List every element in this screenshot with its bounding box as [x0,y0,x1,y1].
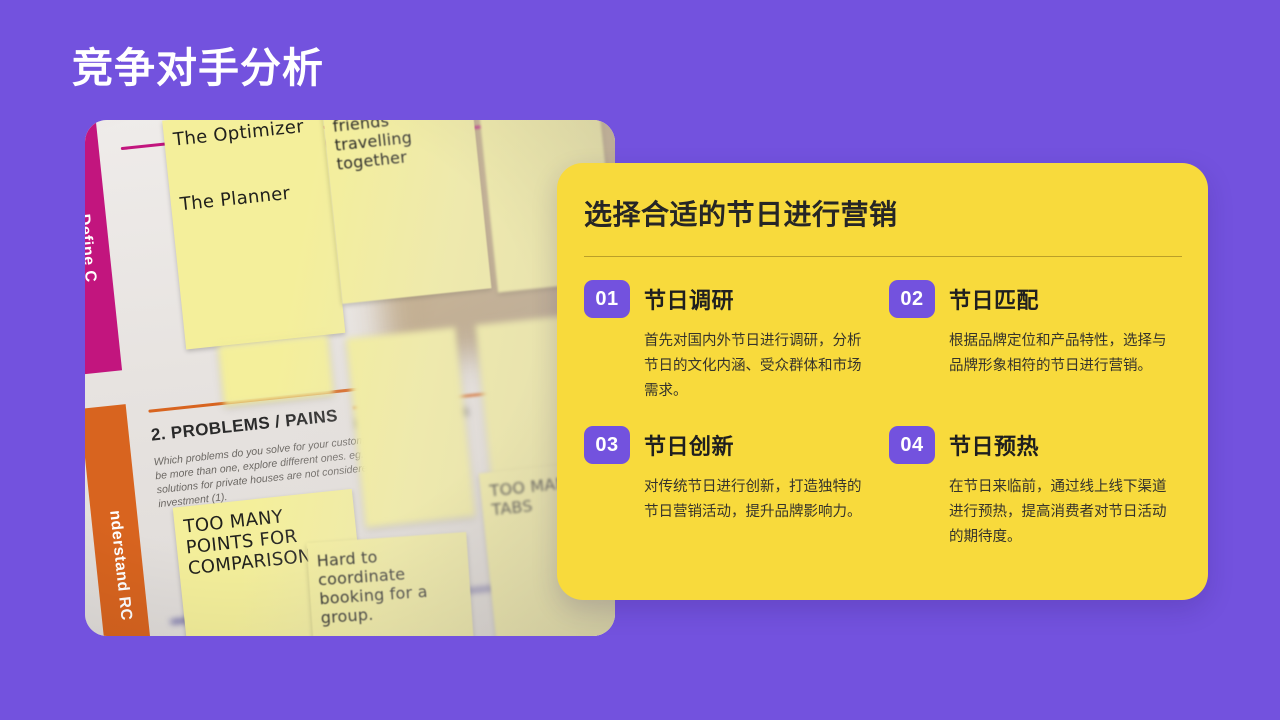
sticky-note-hard-to-coordinate: Hard to coordinate booking for a group. [307,532,480,636]
page-title: 竞争对手分析 [72,44,324,93]
whiteboard-photo: Define C nderstand RC 2. PROBLEMS / PAIN… [85,120,615,636]
step-item-02: 02 节日匹配 根据品牌定位和产品特性，选择与品牌形象相符的节日进行营销。 [889,280,1184,404]
step-item-03: 03 节日创新 对传统节日进行创新，打造独特的节日营销活动，提升品牌影响力。 [584,426,889,550]
step-title-01: 节日调研 [644,283,734,315]
step-item-04-head: 04 节日预热 [889,426,1184,464]
card-title: 选择合适的节日进行营销 [584,193,898,233]
step-item-01: 01 节日调研 首先对国内外节日进行调研，分析节日的文化内涵、受众群体和市场需求… [584,280,889,404]
steps-grid: 01 节日调研 首先对国内外节日进行调研，分析节日的文化内涵、受众群体和市场需求… [584,280,1184,550]
board-tab-define-label: Define C [85,213,99,283]
step-badge-02: 02 [889,280,935,318]
slide-root: 竞争对手分析 Define C nderstand RC 2. PROBLEMS… [0,0,1280,720]
sticky-note-blur-3 [346,327,475,527]
step-item-03-head: 03 节日创新 [584,426,889,464]
sticky-note-optimizer-line1: The Optimizer [172,120,315,151]
content-card: 选择合适的节日进行营销 01 节日调研 首先对国内外节日进行调研，分析节日的文化… [557,163,1208,600]
step-item-02-head: 02 节日匹配 [889,280,1184,318]
step-desc-01: 首先对国内外节日进行调研，分析节日的文化内涵、受众群体和市场需求。 [644,329,872,404]
step-desc-03: 对传统节日进行创新，打造独特的节日营销活动，提升品牌影响力。 [644,475,872,525]
sticky-note-optimizer: The Optimizer The Planner [162,120,345,349]
step-desc-02: 根据品牌定位和产品特性，选择与品牌形象相符的节日进行营销。 [949,329,1177,379]
step-title-03: 节日创新 [644,429,734,461]
sticky-note-optimizer-line2: The Planner [179,180,322,216]
photo-content: Define C nderstand RC 2. PROBLEMS / PAIN… [85,120,615,636]
step-title-04: 节日预热 [949,429,1039,461]
step-item-01-head: 01 节日调研 [584,280,889,318]
step-badge-04: 04 [889,426,935,464]
card-divider [584,256,1182,257]
step-item-04: 04 节日预热 在节日来临前，通过线上线下渠道进行预热，提高消费者对节日活动的期… [889,426,1184,550]
step-badge-01: 01 [584,280,630,318]
sticky-note-groups: Groups of friends travelling together [320,120,492,304]
sticky-note-blur-4 [218,335,334,406]
step-title-02: 节日匹配 [949,283,1039,315]
board-tab-understand-label: nderstand RC [105,510,134,622]
step-badge-03: 03 [584,426,630,464]
step-desc-04: 在节日来临前，通过线上线下渠道进行预热，提高消费者对节日活动的期待度。 [949,475,1177,550]
